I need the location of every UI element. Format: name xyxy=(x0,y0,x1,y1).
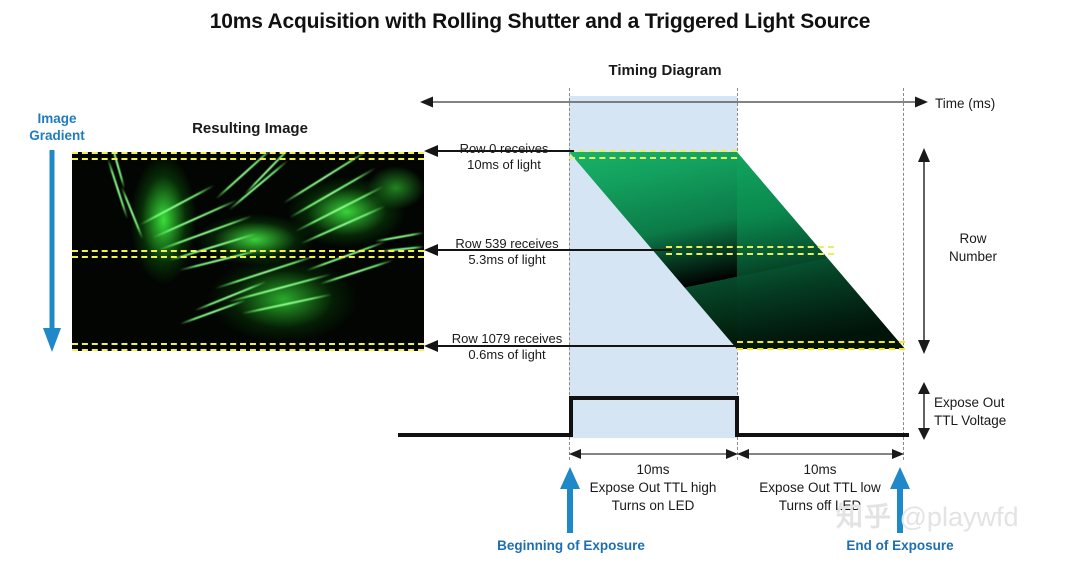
row-1079-callout-line2: 0.6ms of light xyxy=(430,347,584,363)
ttl-trace-rising-edge xyxy=(569,396,573,437)
beginning-of-exposure-arrow-icon xyxy=(558,467,582,535)
ttl-trace-falling-edge xyxy=(735,396,739,437)
resulting-image-heading: Resulting Image xyxy=(130,120,370,137)
ramp-row-marker-0 xyxy=(569,150,737,159)
ttl-trace-low-right xyxy=(735,433,909,437)
row-number-label-line1: Row xyxy=(928,230,1018,248)
beginning-of-exposure-label: Beginning of Exposure xyxy=(478,538,664,553)
ttl-high-duration: 10ms xyxy=(564,461,742,479)
row-0-callout-line2: 10ms of light xyxy=(434,157,574,173)
watermark-cn: 知乎 xyxy=(836,502,892,532)
watermark: 知乎 @playwfd xyxy=(836,495,1018,534)
row-539-callout: Row 539 receives 5.3ms of light xyxy=(434,236,580,268)
row-0-callout: Row 0 receives 10ms of light xyxy=(434,141,574,173)
ramp-row-marker-539 xyxy=(666,246,834,255)
expose-out-ttl-voltage-label: Expose Out TTL Voltage xyxy=(934,394,1044,430)
ttl-high-line3: Turns on LED xyxy=(564,497,742,515)
image-gradient-label-line1: Image xyxy=(10,110,104,127)
time-axis-label: Time (ms) xyxy=(935,96,995,111)
row-0-callout-line1: Row 0 receives xyxy=(434,141,574,157)
ramp-row-marker-1079 xyxy=(737,341,905,350)
image-gradient-label-line2: Gradient xyxy=(10,127,104,144)
row-marker-1079 xyxy=(72,343,424,351)
ttl-voltage-measure-arrow-icon xyxy=(915,382,933,440)
ttl-high-line2: Expose Out TTL high xyxy=(564,479,742,497)
image-gradient-down-arrow-icon xyxy=(40,150,64,354)
time-axis-arrow-icon xyxy=(420,94,928,110)
ttl-high-duration-arrow-icon xyxy=(569,447,738,461)
row-1079-callout-line1: Row 1079 receives xyxy=(430,331,584,347)
ttl-high-annotation: 10ms Expose Out TTL high Turns on LED xyxy=(564,461,742,515)
row-1079-callout: Row 1079 receives 0.6ms of light xyxy=(430,331,584,363)
row-marker-0 xyxy=(72,152,424,160)
row-539-callout-line1: Row 539 receives xyxy=(434,236,580,252)
end-of-exposure-label: End of Exposure xyxy=(822,538,978,553)
ttl-voltage-label-line2: TTL Voltage xyxy=(934,412,1044,430)
ttl-trace-high xyxy=(569,396,739,400)
ttl-trace-low-left xyxy=(398,433,571,437)
watermark-handle: @playwfd xyxy=(900,502,1019,532)
slide-canvas: 10ms Acquisition with Rolling Shutter an… xyxy=(0,0,1080,565)
image-gradient-label: Image Gradient xyxy=(10,110,104,144)
row-marker-539 xyxy=(72,250,424,258)
ttl-low-duration-arrow-icon xyxy=(737,447,904,461)
ttl-low-duration: 10ms xyxy=(731,461,909,479)
row-number-label-line2: Number xyxy=(928,248,1018,266)
row-539-callout-line2: 5.3ms of light xyxy=(434,252,580,268)
row-number-axis-label: Row Number xyxy=(928,230,1018,266)
ttl-voltage-label-line1: Expose Out xyxy=(934,394,1044,412)
resulting-image-photo xyxy=(72,152,424,351)
timing-diagram-heading: Timing Diagram xyxy=(555,62,775,79)
page-title: 10ms Acquisition with Rolling Shutter an… xyxy=(0,10,1080,34)
